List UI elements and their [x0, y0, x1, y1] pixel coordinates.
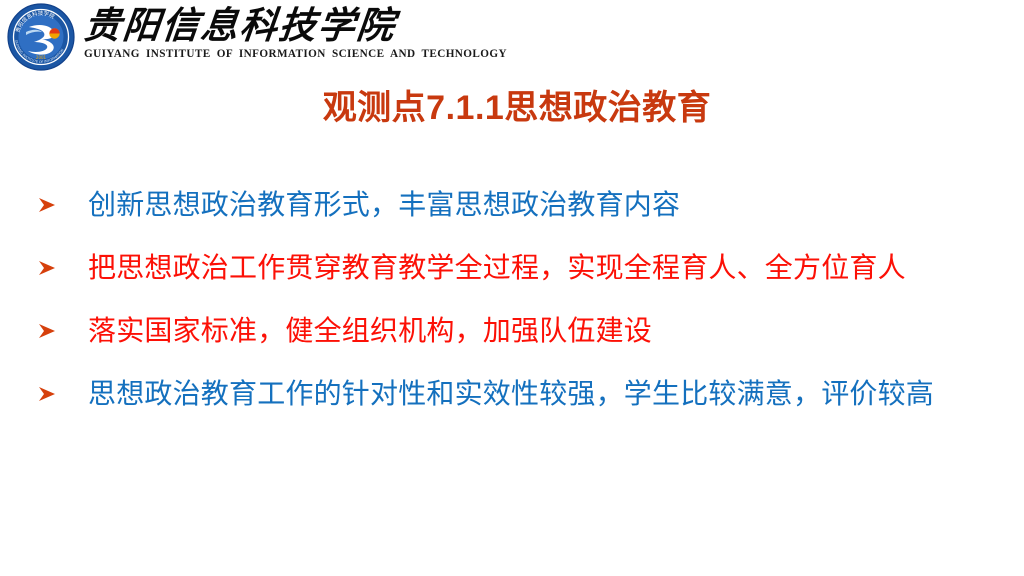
- slide-title: 观测点7.1.1思想政治教育: [0, 86, 1024, 130]
- brand-header: 贵阳信息科技学院 GUIYANG INSTITUTE OF INFORMATIO…: [6, 2, 426, 74]
- brand-wordmark: 贵阳信息科技学院 GUIYANG INSTITUTE OF INFORMATIO…: [84, 2, 507, 61]
- arrowhead-bullet-icon: [34, 381, 60, 407]
- list-item-label: 创新思想政治教育形式，丰富思想政治教育内容: [88, 188, 680, 222]
- university-name-en: GUIYANG INSTITUTE OF INFORMATION SCIENCE…: [84, 47, 507, 61]
- list-item-label: 把思想政治工作贯穿教育教学全过程，实现全程育人、全方位育人: [88, 251, 906, 285]
- list-item: 思想政治教育工作的针对性和实效性较强，学生比较满意，评价较高: [34, 371, 1014, 417]
- emblem-year: 2001: [36, 55, 47, 60]
- arrowhead-bullet-icon: [34, 318, 60, 344]
- university-name-cn: 贵阳信息科技学院: [82, 4, 509, 46]
- list-item: 创新思想政治教育形式，丰富思想政治教育内容: [34, 182, 1014, 228]
- presentation-slide: 贵阳信息科技学院 GUIYANG INSTITUTE OF INFORMATIO…: [0, 0, 1024, 576]
- list-item-label: 落实国家标准，健全组织机构，加强队伍建设: [88, 314, 652, 348]
- arrowhead-bullet-icon: [34, 255, 60, 281]
- university-seal-logo-icon: 贵阳信息科技学院 GUIYANG INSTITUTE OF INFORMATIO…: [6, 2, 76, 72]
- list-item: 落实国家标准，健全组织机构，加强队伍建设: [34, 308, 1014, 354]
- bullet-list: 创新思想政治教育形式，丰富思想政治教育内容 把思想政治工作贯穿教育教学全过程，实…: [34, 182, 1014, 417]
- list-item: 把思想政治工作贯穿教育教学全过程，实现全程育人、全方位育人: [34, 245, 1014, 291]
- list-item-label: 思想政治教育工作的针对性和实效性较强，学生比较满意，评价较高: [88, 377, 934, 411]
- arrowhead-bullet-icon: [34, 192, 60, 218]
